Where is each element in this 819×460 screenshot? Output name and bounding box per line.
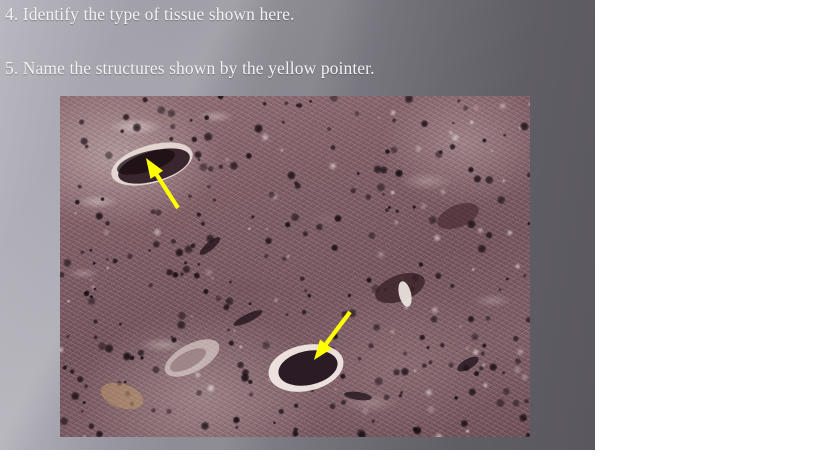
page-margin-right: [595, 0, 819, 460]
question-line-4: 4. Identify the type of tissue shown her…: [5, 3, 294, 25]
slide-canvas: 4. Identify the type of tissue shown her…: [0, 0, 595, 450]
photo-vignette: [60, 96, 530, 437]
question-line-5: 5. Name the structures shown by the yell…: [5, 57, 375, 79]
page-margin-bottom: [0, 450, 819, 460]
histology-micrograph: [60, 96, 530, 437]
